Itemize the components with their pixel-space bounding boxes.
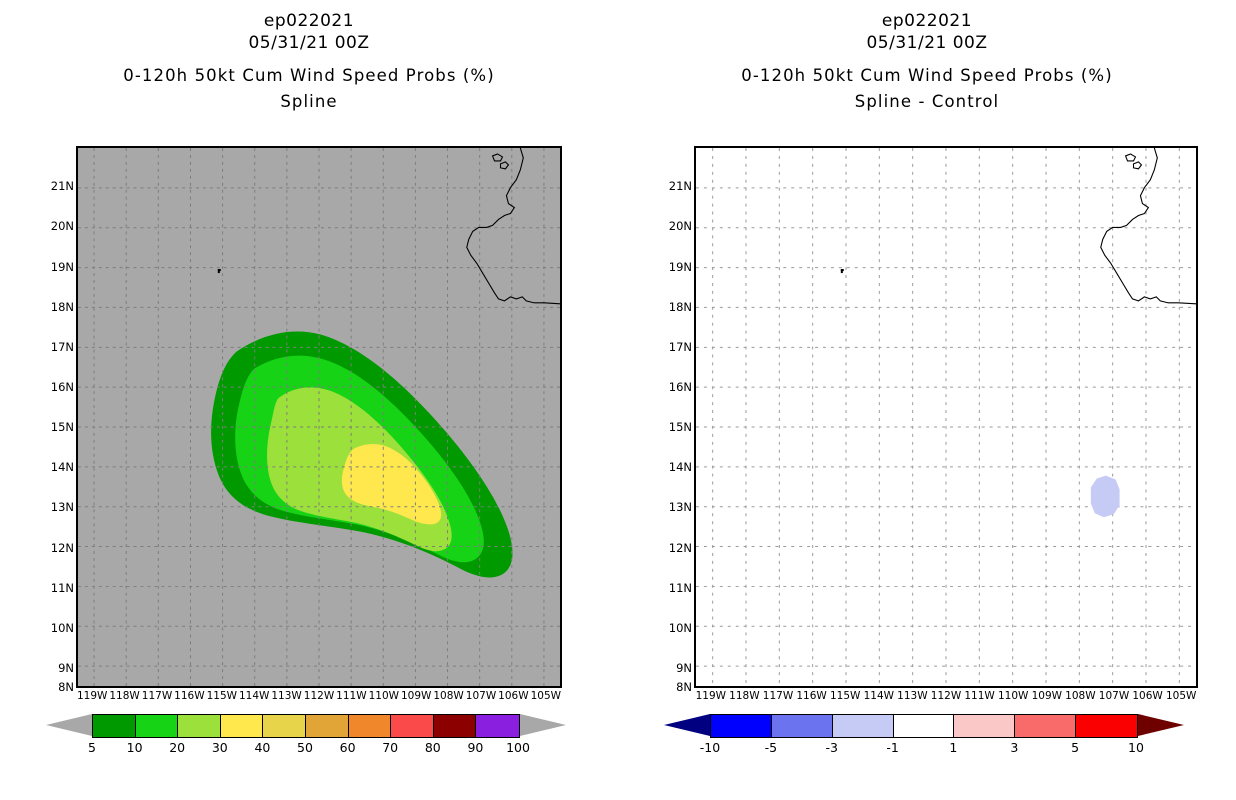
x-axis-label: 112W (304, 690, 334, 702)
colorbar-tick: 10 (1128, 740, 1144, 755)
colorbar-segment (476, 715, 519, 737)
colorbar-tick: -1 (886, 740, 898, 755)
y-axis-label: 19N (669, 260, 692, 274)
colorbar-segment (263, 715, 306, 737)
colorbar-tick: 50 (297, 740, 313, 755)
product-title: 0-120h 50kt Cum Wind Speed Probs (%) (618, 61, 1236, 90)
x-axis-label: 119W (696, 690, 726, 702)
x-axis-label: 106W (1132, 690, 1162, 702)
y-axis-label: 19N (51, 260, 74, 274)
y-axis-label: 18N (51, 300, 74, 314)
y-axis-label: 13N (51, 500, 74, 514)
colorbar-segment (306, 715, 349, 737)
map-plot-difference[interactable] (694, 146, 1198, 688)
colorbar-tick: -10 (700, 740, 720, 755)
colorbar-tick: -3 (825, 740, 837, 755)
product-title: 0-120h 50kt Cum Wind Speed Probs (%) (0, 61, 618, 90)
y-axis-label: 18N (669, 300, 692, 314)
x-axis-label: 107W (466, 690, 496, 702)
colorbar-gradient[interactable] (92, 714, 520, 738)
x-axis-label: 116W (174, 690, 204, 702)
y-axis-label: 9N (676, 661, 692, 675)
map-plot-spline[interactable] (76, 146, 562, 688)
y-axis-label: 8N (58, 680, 74, 694)
x-axis-label: 118W (109, 690, 139, 702)
storm-id-label: ep022021 (0, 10, 618, 32)
y-axis-label: 15N (669, 420, 692, 434)
y-axis-label: 15N (51, 420, 74, 434)
x-axis-label: 115W (830, 690, 860, 702)
probability-colorbar[interactable]: 5 10 20 30 40 50 60 70 80 90 100 (46, 714, 566, 774)
x-axis-label: 118W (729, 690, 759, 702)
panel-subtitle: Spline - Control (618, 90, 1236, 114)
y-axis-label: 16N (669, 380, 692, 394)
y-axis-label: 16N (51, 380, 74, 394)
colorbar-high-cap (520, 714, 566, 736)
x-axis-label: 117W (763, 690, 793, 702)
y-axis-label: 21N (669, 179, 692, 193)
y-axis-label: 11N (669, 581, 692, 595)
colorbar-tick: 30 (212, 740, 228, 755)
colorbar-low-cap (664, 714, 710, 736)
y-axis-left: 21N 20N 19N 18N 17N 16N 15N 14N 13N 12N … (0, 146, 74, 688)
y-axis-label: 17N (51, 340, 74, 354)
y-axis-label: 13N (669, 500, 692, 514)
colorbar-segment (954, 715, 1015, 737)
colorbar-segment (178, 715, 221, 737)
colorbar-segment (1076, 715, 1137, 737)
colorbar-segment (136, 715, 179, 737)
y-axis-label: 17N (669, 340, 692, 354)
colorbar-high-cap (1138, 714, 1184, 736)
x-axis-label: 113W (897, 690, 927, 702)
left-panel-titles: ep022021 05/31/21 00Z 0-120h 50kt Cum Wi… (0, 10, 618, 114)
coastline-layer (78, 148, 560, 686)
colorbar-gradient[interactable] (710, 714, 1138, 738)
x-axis-label: 106W (498, 690, 528, 702)
colorbar-segment (93, 715, 136, 737)
colorbar-tick: 20 (169, 740, 185, 755)
colorbar-segment (391, 715, 434, 737)
colorbar-tick: 40 (254, 740, 270, 755)
colorbar-segment (1015, 715, 1076, 737)
datetime-label: 05/31/21 00Z (618, 32, 1236, 55)
colorbar-segment (221, 715, 264, 737)
colorbar-tick: 1 (949, 740, 957, 755)
colorbar-segment (711, 715, 772, 737)
x-axis-label: 108W (1065, 690, 1095, 702)
y-axis-right: 21N 20N 19N 18N 17N 16N 15N 14N 13N 12N … (618, 146, 692, 688)
y-axis-label: 12N (669, 541, 692, 555)
x-axis-label: 105W (1166, 690, 1196, 702)
x-axis-label: 117W (142, 690, 172, 702)
x-axis-label: 113W (271, 690, 301, 702)
y-axis-label: 10N (51, 621, 74, 635)
x-axis-label: 105W (531, 690, 561, 702)
x-axis-label: 111W (964, 690, 994, 702)
y-axis-label: 8N (676, 680, 692, 694)
colorbar-segment (349, 715, 392, 737)
storm-id-label: ep022021 (618, 10, 1236, 32)
colorbar-tick: 5 (1071, 740, 1079, 755)
colorbar-tick: 70 (382, 740, 398, 755)
datetime-label: 05/31/21 00Z (0, 32, 618, 55)
colorbar-tick: 80 (425, 740, 441, 755)
y-axis-label: 11N (51, 581, 74, 595)
colorbar-low-cap (46, 714, 92, 736)
x-axis-label: 110W (998, 690, 1028, 702)
x-axis-label: 110W (369, 690, 399, 702)
y-axis-label: 9N (58, 661, 74, 675)
x-axis-label: 107W (1099, 690, 1129, 702)
colorbar-tick: 10 (127, 740, 143, 755)
y-axis-label: 14N (669, 460, 692, 474)
y-axis-label: 12N (51, 541, 74, 555)
x-axis-label: 116W (796, 690, 826, 702)
panel-spline-minus-control: ep022021 05/31/21 00Z 0-120h 50kt Cum Wi… (618, 0, 1236, 800)
x-axis-label: 108W (433, 690, 463, 702)
y-axis-label: 21N (51, 179, 74, 193)
colorbar-tick: 100 (506, 740, 530, 755)
y-axis-label: 20N (51, 219, 74, 233)
x-axis-label: 111W (336, 690, 366, 702)
colorbar-tick: 60 (340, 740, 356, 755)
panel-spline: ep022021 05/31/21 00Z 0-120h 50kt Cum Wi… (0, 0, 618, 800)
colorbar-segment (772, 715, 833, 737)
colorbar-segment (434, 715, 477, 737)
panel-subtitle: Spline (0, 90, 618, 114)
x-axis-label: 119W (77, 690, 107, 702)
colorbar-segment (894, 715, 955, 737)
x-axis-label: 109W (1032, 690, 1062, 702)
x-axis-label: 114W (864, 690, 894, 702)
x-axis-label: 109W (401, 690, 431, 702)
colorbar-tick: -5 (765, 740, 777, 755)
coastline-layer (696, 148, 1196, 686)
colorbar-tick: 90 (467, 740, 483, 755)
colorbar-tick: 3 (1010, 740, 1018, 755)
colorbar-tick: 5 (88, 740, 96, 755)
x-axis-label: 112W (931, 690, 961, 702)
difference-colorbar[interactable]: -10 -5 -3 -1 1 3 5 10 (664, 714, 1184, 774)
x-axis-label: 114W (239, 690, 269, 702)
y-axis-label: 14N (51, 460, 74, 474)
y-axis-label: 20N (669, 219, 692, 233)
x-axis-label: 115W (207, 690, 237, 702)
colorbar-segment (833, 715, 894, 737)
right-panel-titles: ep022021 05/31/21 00Z 0-120h 50kt Cum Wi… (618, 10, 1236, 114)
y-axis-label: 10N (669, 621, 692, 635)
